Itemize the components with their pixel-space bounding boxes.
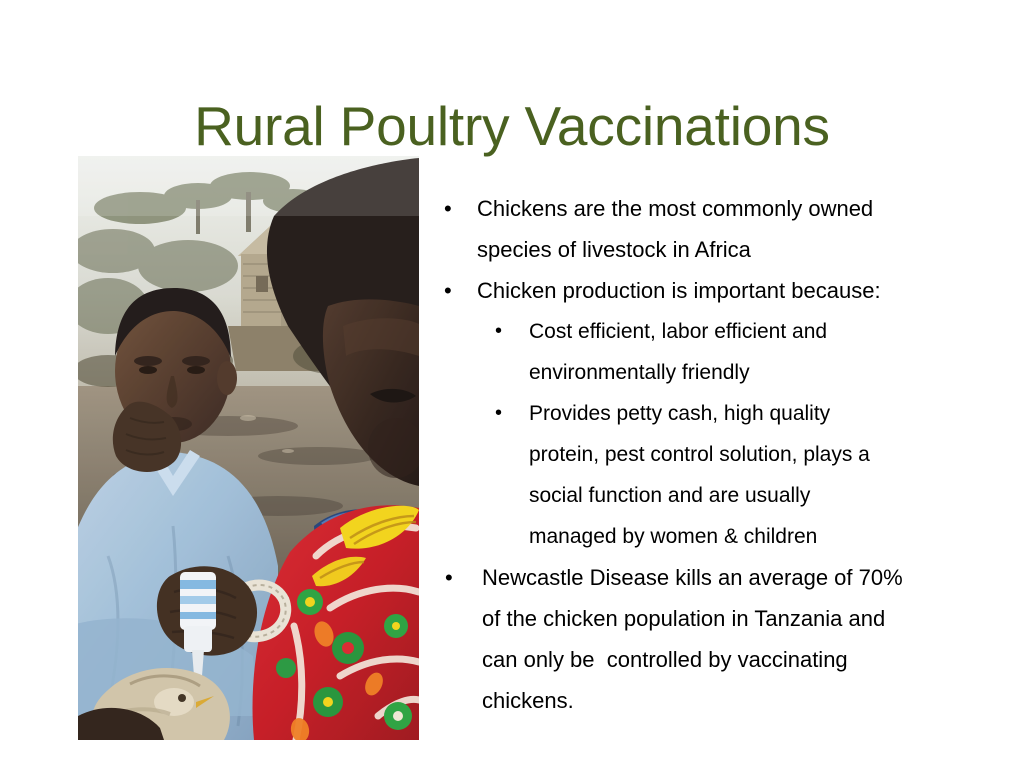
sub-list-item-line: protein, pest control solution, plays a <box>529 434 947 475</box>
content-bullet-list: • Chickens are the most commonly owned s… <box>437 188 947 721</box>
list-item-line: Newcastle Disease kills an average of 70… <box>482 557 947 598</box>
list-item: • Chicken production is important becaus… <box>437 270 947 311</box>
photo-illustration <box>78 156 419 740</box>
bullet-icon: • <box>495 393 502 434</box>
sub-list-item-line: social function and are usually <box>529 475 947 516</box>
list-item-line: species of livestock in Africa <box>477 229 947 270</box>
rural-poultry-vaccination-photo <box>78 156 419 740</box>
list-item: • Newcastle Disease kills an average of … <box>437 557 947 721</box>
list-item-line: of the chicken population in Tanzania an… <box>482 598 947 639</box>
sub-list-item-line: managed by women & children <box>529 516 947 557</box>
sub-list-item: • Cost efficient, labor efficient and en… <box>437 311 947 393</box>
sub-list-item-line: Cost efficient, labor efficient and <box>529 311 947 352</box>
bullet-icon: • <box>495 311 502 352</box>
bullet-icon: • <box>444 270 452 311</box>
bullet-icon: • <box>445 557 453 598</box>
sub-list-item-line: environmentally friendly <box>529 352 947 393</box>
slide: Rural Poultry Vaccinations <box>0 0 1024 768</box>
page-title: Rural Poultry Vaccinations <box>0 95 1024 157</box>
list-item-line: chickens. <box>482 680 947 721</box>
bullet-icon: • <box>444 188 452 229</box>
list-item-line: Chickens are the most commonly owned <box>477 188 947 229</box>
list-item: • Chickens are the most commonly owned s… <box>437 188 947 270</box>
sub-list-item-line: Provides petty cash, high quality <box>529 393 947 434</box>
list-item-line: can only be controlled by vaccinating <box>482 639 947 680</box>
sub-list-item: • Provides petty cash, high quality prot… <box>437 393 947 557</box>
list-item-line: Chicken production is important because: <box>477 270 947 311</box>
